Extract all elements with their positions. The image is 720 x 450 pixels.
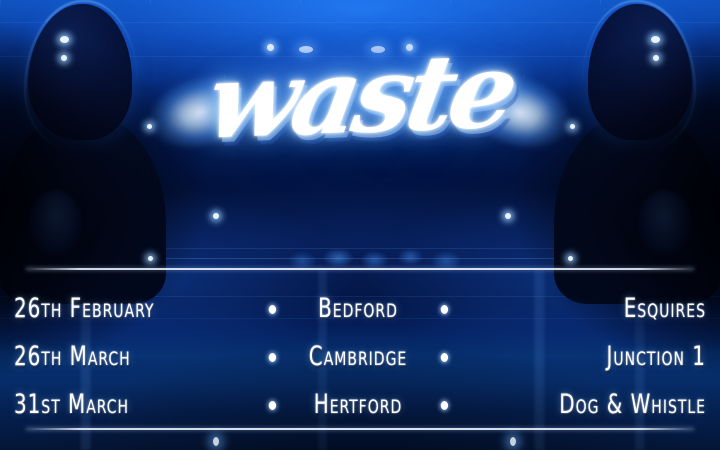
stage-light-icon xyxy=(570,124,575,129)
tour-city: Cambridge xyxy=(309,341,407,372)
gig-poster: waste 26th February Bedford Esquires 26t… xyxy=(0,0,720,450)
stage-light-icon xyxy=(653,55,659,61)
stage-light-icon xyxy=(568,256,573,261)
tour-date: 26th February xyxy=(14,293,204,324)
stage-light-icon xyxy=(651,36,660,43)
stage-light-icon xyxy=(148,256,153,261)
stage-light-icon xyxy=(510,437,516,446)
stage-light-icon xyxy=(60,36,69,43)
separator-dot-icon xyxy=(423,389,466,420)
separator-dot-icon xyxy=(251,389,294,420)
stage-light-icon xyxy=(213,213,219,219)
divider-bottom xyxy=(26,428,694,430)
tour-city: Hertford xyxy=(309,389,407,420)
tour-venue: Esquires xyxy=(512,293,706,324)
tour-date: 26th March xyxy=(14,341,204,372)
tour-venue: Junction 1 xyxy=(513,341,706,372)
tour-date-list: 26th February Bedford Esquires 26th Marc… xyxy=(14,284,706,428)
stage-light-icon xyxy=(299,46,313,53)
tour-city: Bedford xyxy=(309,293,407,324)
separator-dot-icon xyxy=(251,293,294,324)
tour-date: 31st March xyxy=(14,389,204,420)
stage-light-icon xyxy=(371,46,385,53)
divider-top xyxy=(26,268,694,270)
stage-light-icon xyxy=(213,437,219,446)
separator-dot-icon xyxy=(423,341,466,372)
separator-dot-icon xyxy=(423,293,466,324)
stage-light-icon xyxy=(406,44,413,51)
stage-light-icon xyxy=(61,55,67,61)
tour-date-row: 26th March Cambridge Junction 1 xyxy=(14,332,706,380)
stage-light-icon xyxy=(147,124,152,129)
tour-date-row: 31st March Hertford Dog & Whistle xyxy=(14,380,706,428)
tour-venue: Dog & Whistle xyxy=(512,389,706,420)
tour-date-row: 26th February Bedford Esquires xyxy=(14,284,706,332)
stage-light-icon xyxy=(505,213,511,219)
separator-dot-icon xyxy=(251,341,294,372)
stage-light-icon xyxy=(267,44,274,51)
